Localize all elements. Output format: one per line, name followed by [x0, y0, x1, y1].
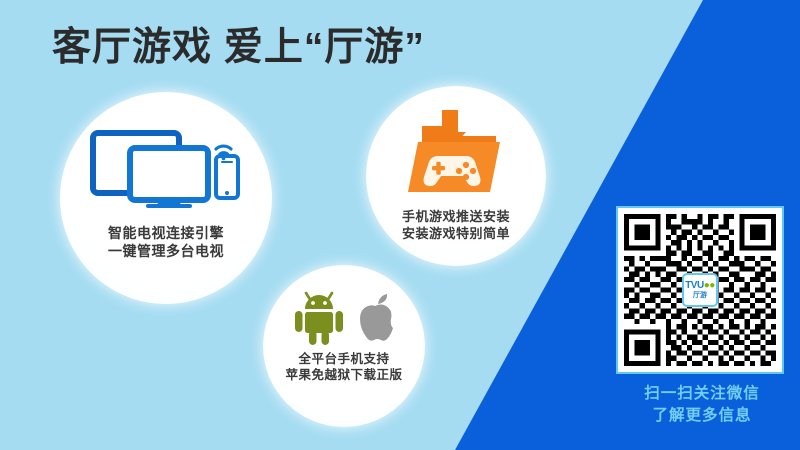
- feature-caption-line2: 苹果免越狱下载正版: [285, 367, 402, 383]
- android-icon: [293, 289, 345, 345]
- qr-code[interactable]: TVU●● 厅游: [616, 206, 784, 374]
- feature-caption-tv-connect: 智能电视连接引擎 一键管理多台电视: [108, 225, 224, 261]
- feature-caption-line1: 智能电视连接引擎: [108, 225, 224, 243]
- qr-logo-primary: TVU●●: [685, 281, 715, 291]
- apple-icon: [354, 293, 396, 345]
- feature-card-all-platform[interactable]: 全平台手机支持 苹果免越狱下载正版: [263, 265, 425, 427]
- feature-card-game-push[interactable]: 手机游戏推送安装 安装游戏特别简单: [366, 86, 546, 266]
- qr-block: TVU●● 厅游 扫一扫关注微信 了解更多信息: [616, 206, 788, 428]
- folder-gamepad-download-icon: [404, 110, 508, 203]
- qr-caption-line1: 扫一扫关注微信: [616, 383, 788, 405]
- qr-logo-secondary: 厅游: [693, 292, 707, 299]
- tv-monitor-phone-icon: [90, 130, 242, 213]
- feature-caption-all-platform: 全平台手机支持 苹果免越狱下载正版: [285, 351, 402, 383]
- feature-caption-line2: 安装游戏特别简单: [402, 226, 510, 243]
- feature-caption-game-push: 手机游戏推送安装 安装游戏特别简单: [402, 209, 510, 242]
- qr-caption: 扫一扫关注微信 了解更多信息: [616, 383, 788, 428]
- feature-card-tv-connect[interactable]: 智能电视连接引擎 一键管理多台电视: [60, 92, 272, 304]
- qr-center-logo: TVU●● 厅游: [682, 273, 718, 307]
- qr-caption-line2: 了解更多信息: [616, 405, 788, 427]
- page-title: 客厅游戏 爱上“厅游”: [52, 16, 425, 72]
- poster-canvas: 客厅游戏 爱上“厅游” 智能电视连接引擎: [0, 0, 800, 450]
- feature-caption-line1: 全平台手机支持: [285, 351, 402, 367]
- feature-caption-line2: 一键管理多台电视: [108, 243, 224, 261]
- feature-caption-line1: 手机游戏推送安装: [402, 209, 510, 226]
